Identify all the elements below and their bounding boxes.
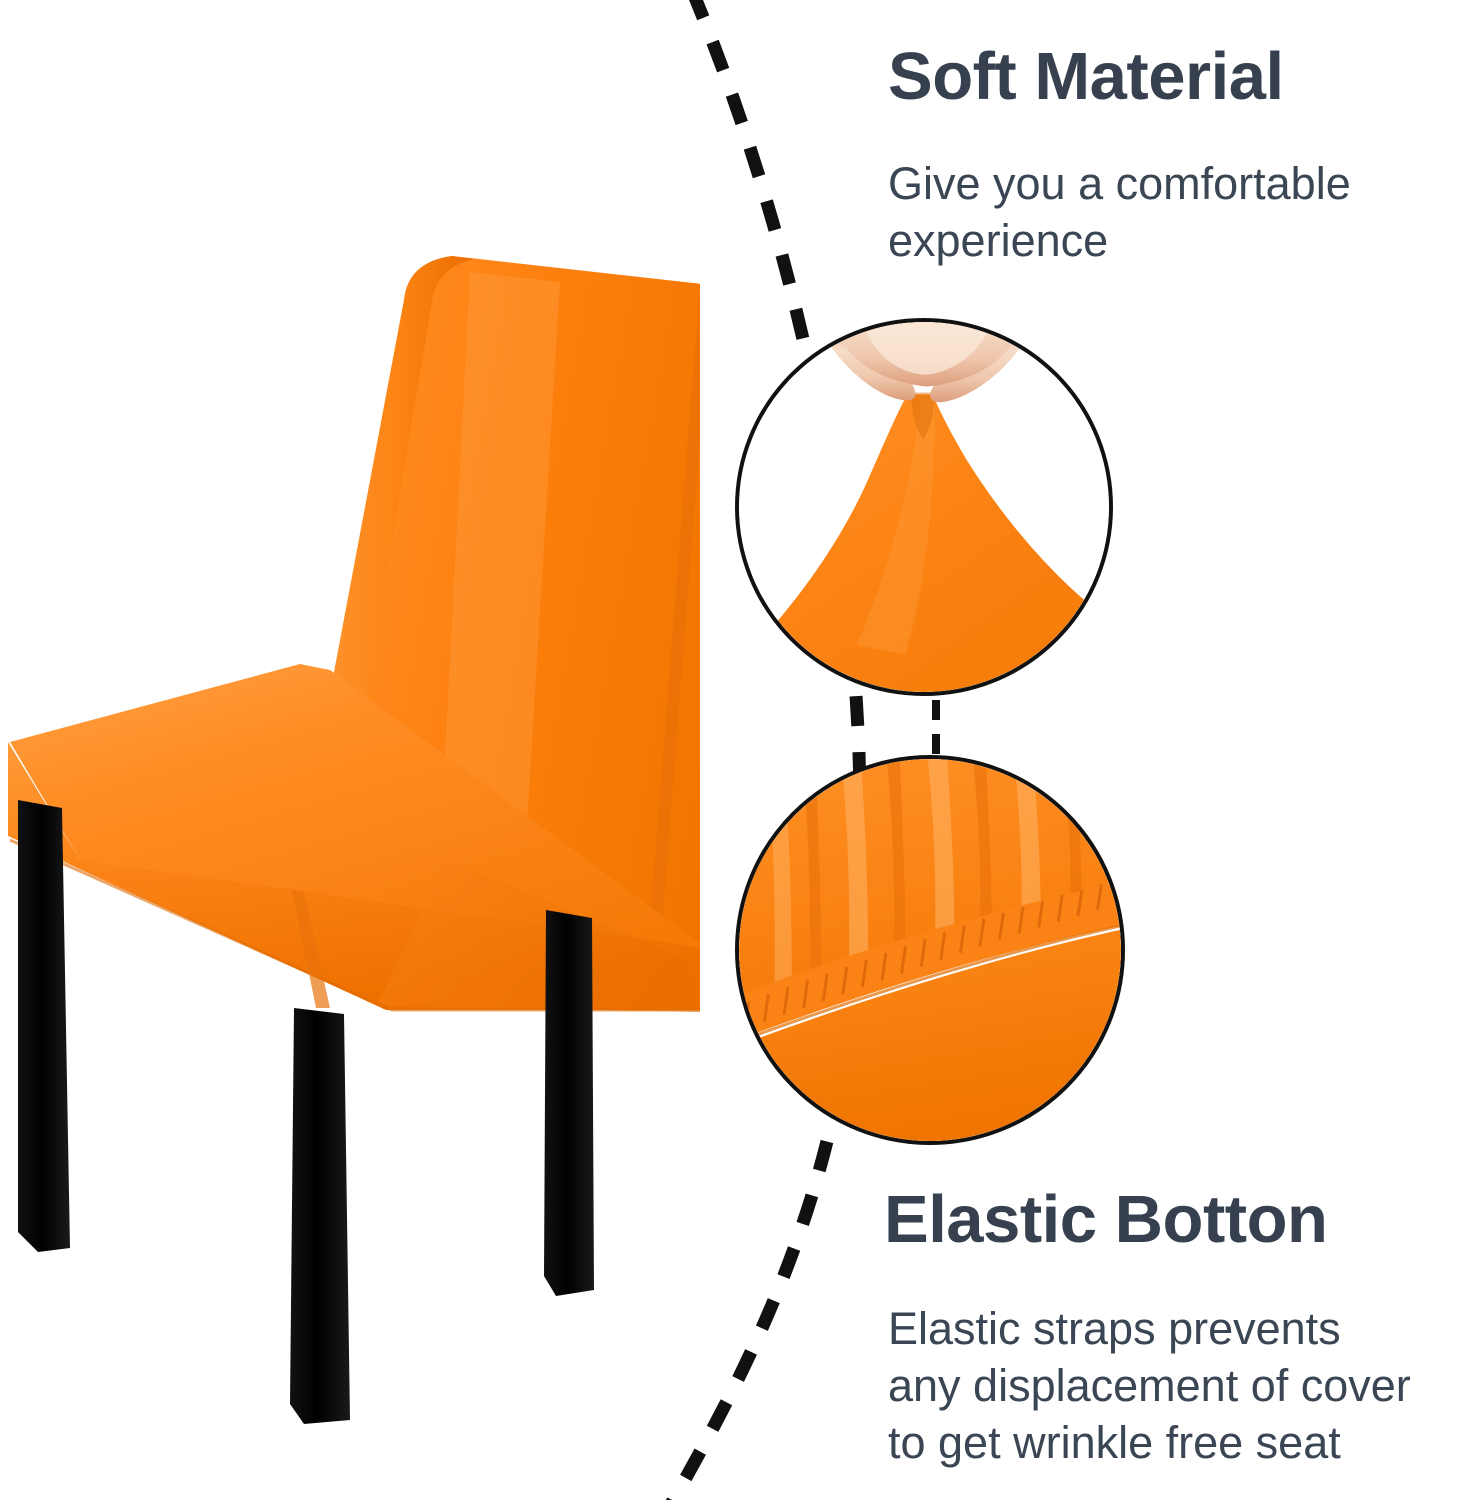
soft-material-heading: Soft Material [888,42,1284,112]
soft-material-body: Give you a comfortable experience [888,155,1418,269]
product-infographic: Soft Material Give you a comfortable exp… [0,0,1464,1500]
chair-leg-back-right [544,910,594,1296]
elastic-bottom-body: Elastic straps prevents any displacement… [888,1300,1418,1471]
chair-illustration [0,0,700,1500]
chair-leg-center [290,1008,350,1424]
chair-leg-front-left [18,800,70,1252]
feature-text-panel: Soft Material Give you a comfortable exp… [880,0,1440,1500]
elastic-bottom-heading: Elastic Botton [884,1185,1327,1255]
product-photo [0,0,700,1500]
